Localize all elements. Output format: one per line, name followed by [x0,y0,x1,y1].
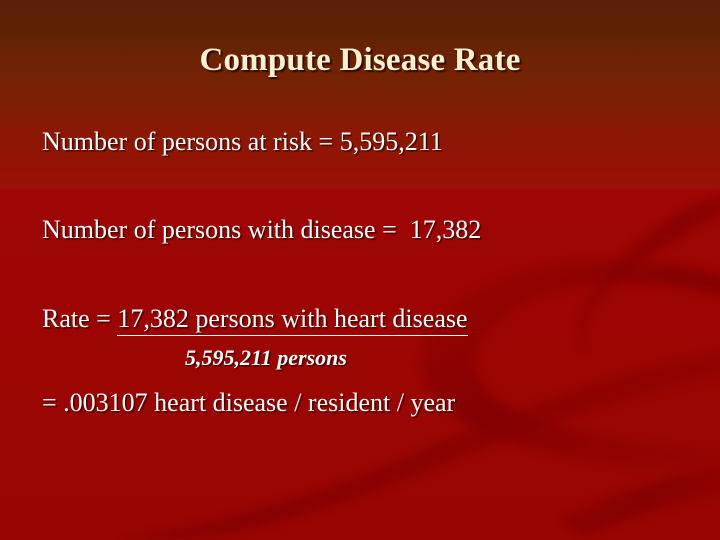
text-persons-with-disease: Number of persons with disease = 17,382 [42,216,682,244]
rate-label: Rate = [42,304,117,334]
slide-title: Compute Disease Rate [0,42,720,79]
slide-body: Number of persons at risk = 5,595,211 Nu… [42,128,682,417]
rate-denominator: 5,595,211 persons [42,345,682,371]
text-persons-at-risk: Number of persons at risk = 5,595,211 [42,128,682,156]
presentation-slide: Compute Disease Rate Number of persons a… [0,0,720,540]
rate-numerator: 17,382 persons with heart disease [117,304,467,336]
rate-formula-row: Rate = 17,382 persons with heart disease [42,304,682,336]
text-rate-result: = .003107 heart disease / resident / yea… [42,389,682,417]
